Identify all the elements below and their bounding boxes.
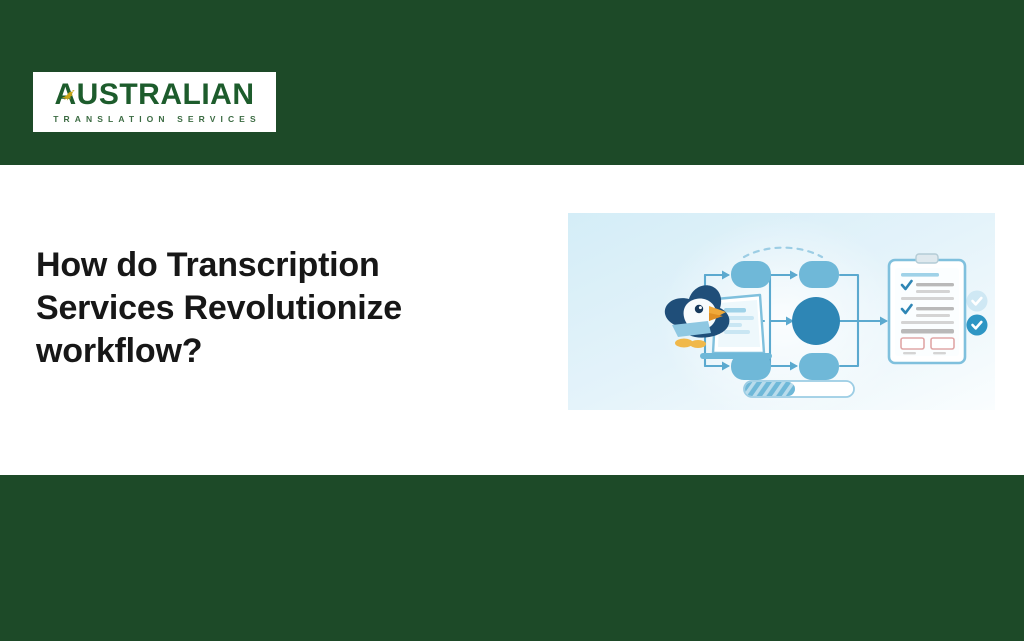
- flow-node-top-left: [731, 261, 771, 288]
- flow-node-top-right: [799, 261, 839, 288]
- header-band: AUSTRALIAN TRANSLATION SERVICES: [0, 0, 1024, 165]
- footer-band: [0, 475, 1024, 641]
- flow-node-bottom-right: [799, 353, 839, 380]
- kangaroo-icon: [60, 89, 77, 104]
- clipboard-form-icon: [889, 254, 965, 363]
- page-root: AUSTRALIAN TRANSLATION SERVICES How do T…: [0, 0, 1024, 641]
- hero-illustration: [568, 213, 995, 410]
- hero-section: How do Transcription Services Revolution…: [0, 165, 1024, 475]
- progress-bar: [744, 381, 854, 397]
- flow-node-center: [792, 297, 840, 345]
- site-logo[interactable]: AUSTRALIAN TRANSLATION SERVICES: [33, 72, 276, 132]
- page-title: How do Transcription Services Revolution…: [36, 244, 506, 372]
- logo-wordmark-text: AUSTRALIAN: [55, 78, 255, 111]
- logo-subtitle-text: TRANSLATION SERVICES: [48, 114, 260, 124]
- workflow-diagram-svg: [568, 213, 995, 410]
- logo-wordmark-row: AUSTRALIAN: [55, 80, 255, 110]
